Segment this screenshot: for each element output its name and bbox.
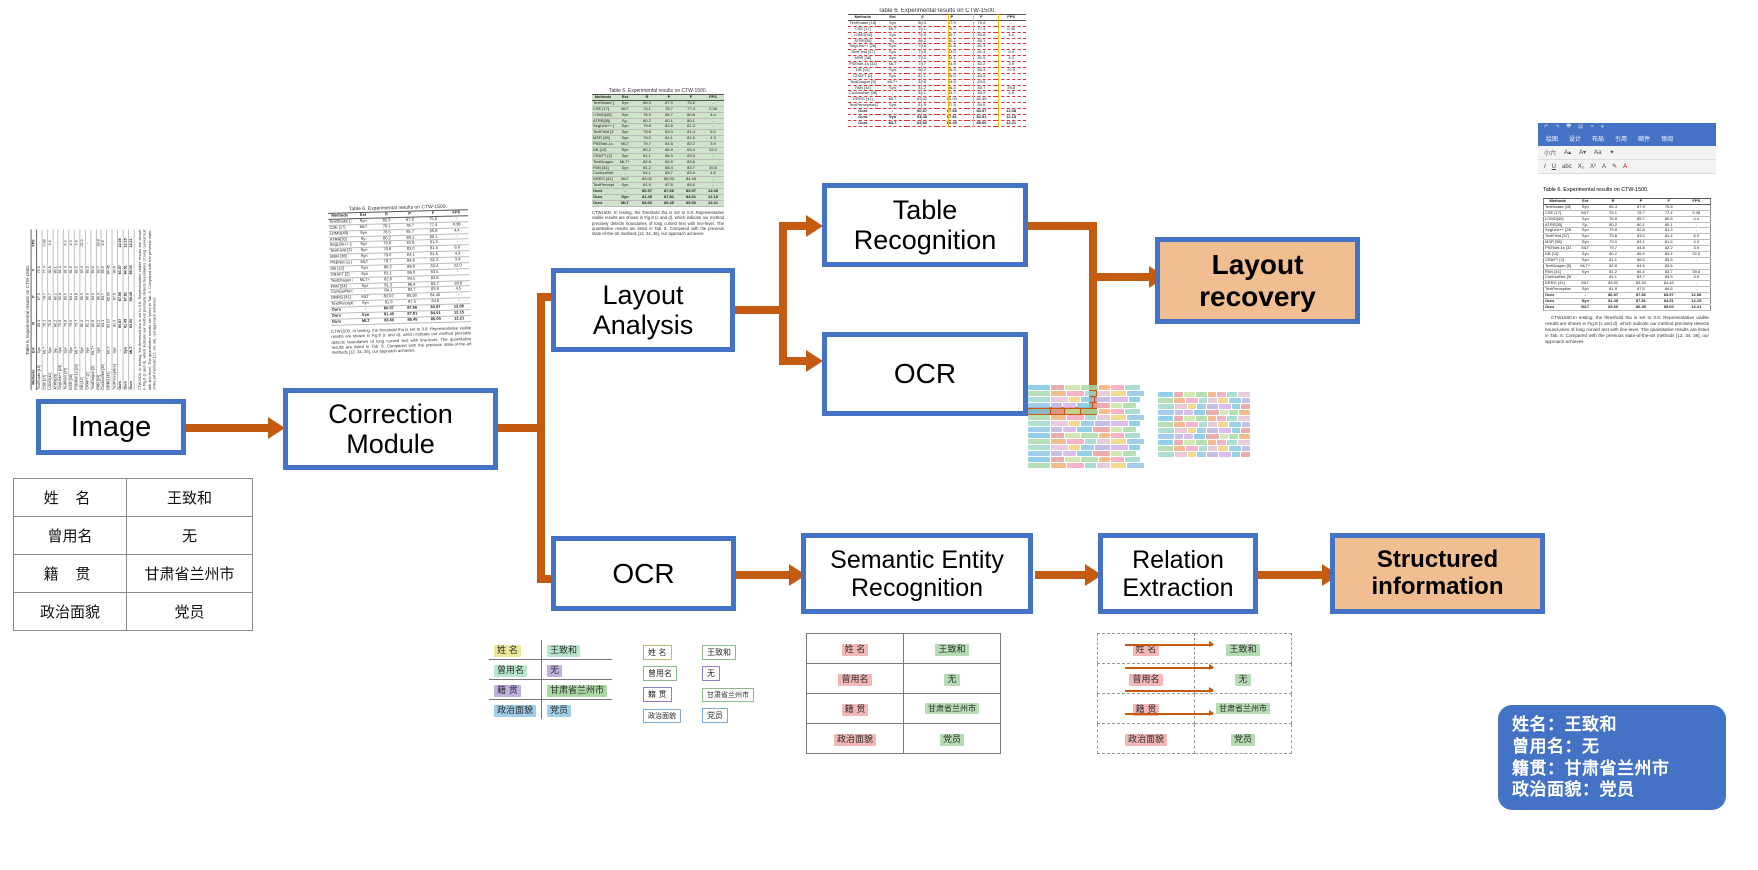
grow-font-icon[interactable]: A▴ [1564,149,1571,156]
detection-cell [1127,415,1144,420]
detection-cell [1111,421,1128,426]
re-grid: 姓 名 王致和 曾用名 无 籍 贯 甘肃省兰州市 政治面貌 党员 [1097,633,1292,754]
re-answer-0: 王致和 [1226,644,1259,656]
detection-cell [1028,403,1050,408]
cell-value: 85.00 [1655,304,1683,310]
cell-value: 12.21 [702,200,724,206]
word-style-toolbar[interactable]: I U abc X₂ X² A ✎ A [1538,160,1716,174]
detection-cell [1081,397,1094,402]
word-table-caption: Table 6. Experimental results on CTW-150… [1543,187,1649,193]
detection-cell [1186,446,1198,451]
diagram-canvas: Image Correction Module Layout Analysis … [0,0,1758,870]
detection-cell [1095,445,1110,450]
node-correction-line2: Module [340,429,441,459]
connector-correction-out [496,424,541,432]
text-effects-icon[interactable]: A [1602,164,1606,170]
dropdown-icon[interactable]: ▾ [1601,124,1604,130]
detection-cell [1111,385,1124,390]
detection-cell [1067,415,1084,420]
connector-image-to-correction [185,424,273,432]
detection-cell [1158,446,1173,451]
detection-cell [1063,451,1076,456]
detection-cell [1051,415,1066,420]
detection-cell [1158,410,1174,415]
cell-method: ContourNet [36] [592,171,614,177]
cell-method: PSENet-1s [33] [848,62,878,68]
detection-cell [1127,463,1144,468]
detection-cell [1081,385,1098,390]
detection-cell [1194,410,1205,415]
detection-cell [1111,451,1122,456]
cell-method: Ours [128,364,133,390]
detection-cell [1188,404,1196,409]
detection-cell [1174,416,1183,421]
green-doc-prose: CTW1500. In testing, the threshold tha i… [592,210,724,237]
detection-cell [1069,397,1080,402]
detection-row [1028,433,1146,438]
font-size-value[interactable]: 小六 [1544,148,1556,157]
highlight-icon[interactable]: ✎ [1612,163,1617,170]
detection-row [1158,398,1250,403]
detection-row [1028,385,1146,390]
node-structured-information[interactable]: Structured information [1330,533,1545,614]
detection-cell [1186,398,1198,403]
node-ser-line2: Recognition [845,574,989,602]
ser-question-0: 姓 名 [842,644,869,656]
cell-method: TextSnake [18] [592,100,614,106]
table-row: 籍 贯 甘肃省兰州市 [1098,694,1292,724]
strikethrough-icon[interactable]: abc [1562,164,1572,170]
cell-method: ContourNet [36] [1544,275,1572,281]
detection-cell [1028,427,1050,432]
ocr-boxes-grid: 姓 名 王致和 曾用名 无 籍 贯 甘肃省兰州市 政治面貌 党员 [638,642,759,726]
re-answer-1: 无 [1235,674,1250,686]
ocrbox-value-1: 无 [702,666,720,681]
node-image[interactable]: Image [36,399,186,455]
tab-layout[interactable]: 布局 [1592,134,1604,143]
cell-method: TextSnake [18] [848,20,878,26]
detection-cell [1063,427,1076,432]
cell-method: TextPerception[23] [592,183,614,189]
relation-arrow-3 [1209,710,1214,716]
detection-cell [1093,403,1110,408]
detection-cell [1069,421,1080,426]
detection-cell [1217,416,1226,421]
ocr-value-3: 党员 [547,705,571,717]
detection-cell [1186,422,1198,427]
ocrbox-key-3: 政治面貌 [643,709,681,723]
detection-cell [1196,416,1208,421]
detection-row [1158,422,1250,427]
detection-cell [1232,404,1240,409]
layout-analysis-preview-document: Table 6. Experimental results on CTW-150… [592,88,724,248]
node-relation-extraction[interactable]: Relation Extraction [1098,533,1258,614]
detection-cell [1175,410,1183,415]
ser-question-2: 籍 贯 [842,704,869,716]
undo-icon[interactable]: ↶ [1544,124,1548,130]
word-font-toolbar[interactable]: 小六 A▴ A▾ Aa ✦ [1538,146,1716,160]
detection-row [1028,445,1146,450]
redo-icon[interactable]: ↷ [1555,124,1559,130]
detection-cell [1174,440,1183,445]
cell-method: DRRG [41] [592,177,614,183]
cell-method: Ours [331,318,354,324]
detection-cell [1077,451,1092,456]
detection-cell [1197,404,1206,409]
detection-row [1028,415,1146,420]
detection-cell [1184,392,1194,397]
tab-review[interactable]: 审阅 [1661,134,1673,143]
detection-cell [1199,422,1207,427]
detection-cell [1238,440,1250,445]
relation-link-0 [1125,644,1213,646]
ocrbox-value-3: 党员 [702,708,728,723]
cell-value: MLT [878,120,908,126]
ocr-key-1: 曾用名 [494,665,527,677]
cell-value: 86.45 [1627,304,1655,310]
detection-cell [1081,445,1094,450]
result-line-4: 政治面貌：党员 [1512,779,1712,801]
table-row: 政治面貌 党员 [807,724,1001,754]
superscript-icon[interactable]: X² [1590,164,1596,170]
detection-cell [1051,385,1064,390]
cell-value: MLT [354,318,377,324]
detection-cell [1188,428,1196,433]
table-row: 曾用名 无 [638,663,759,684]
id-key-0: 姓 名 [14,479,127,517]
node-layout-analysis[interactable]: Layout Analysis [551,268,735,352]
detection-cell [1242,422,1250,427]
detection-cell [1129,397,1140,402]
detection-cell [1207,428,1218,433]
detection-cell [1239,434,1250,439]
result-line-2: 曾用名：无 [1512,736,1712,758]
detection-cell [1028,457,1050,462]
detection-cell [1158,416,1173,421]
node-correction-module[interactable]: Correction Module [283,388,498,470]
detection-row [1028,409,1146,414]
node-ocr-top[interactable]: OCR [822,332,1028,416]
detection-cell [1158,422,1173,427]
detection-cell [1174,446,1185,451]
cell-value: 86.45 [937,120,967,126]
detection-cell [1028,397,1050,402]
detection-row [1158,452,1250,457]
tab-mailings[interactable]: 邮件 [1638,134,1650,143]
detection-cell [1111,391,1126,396]
cell-method: SegLink++ [28] [1544,228,1572,234]
node-layout-recovery[interactable]: Layout recovery [1155,237,1360,324]
detection-cell [1063,403,1076,408]
format-painter-icon[interactable]: ✑ [1590,124,1594,130]
detection-cell [1099,385,1110,390]
ocrbox-key-0: 姓 名 [643,645,672,660]
detection-cell [1085,463,1096,468]
cell-method: TextPerception[23] [112,364,117,390]
ocrbox-key-1: 曾用名 [643,666,677,681]
detection-cell [1174,422,1185,427]
table-row: 籍 贯 甘肃省兰州市 [489,680,612,700]
detection-cell [1241,404,1250,409]
node-layout-analysis-line1: Layout [596,280,689,310]
detection-cell [1219,452,1231,457]
detection-cell [1099,457,1110,462]
cell-method: SegLink++ [28] [58,364,63,390]
cell-value: 86.45 [658,200,680,206]
detection-cell [1158,440,1173,445]
detection-cell [1217,440,1226,445]
cell-method: CRAFT [2] [592,153,614,159]
detection-cell [1129,445,1140,450]
detection-cell [1051,397,1068,402]
detection-cell [1065,433,1080,438]
re-sample-table: 姓 名 王致和 曾用名 无 籍 贯 甘肃省兰州市 政治面貌 党员 [1097,633,1292,754]
detection-cell [1208,392,1216,397]
detection-cell [1067,439,1084,444]
detection-cell [1093,427,1110,432]
detection-cell [1218,446,1229,451]
connector-table-out [1026,222,1093,230]
detection-cell [1051,433,1064,438]
detection-cell [1158,434,1174,439]
detection-cell [1220,410,1228,415]
detection-cell [1227,440,1237,445]
detection-row [1158,416,1250,421]
ocr-sample-boxes: 姓 名 王致和 曾用名 无 籍 贯 甘肃省兰州市 政治面貌 党员 [638,642,759,726]
node-semantic-entity-recognition[interactable]: Semantic Entity Recognition [801,533,1033,614]
source-doc-prose: CTW1500. In testing, the threshold tha i… [331,325,472,356]
table-row: 籍 贯 甘肃省兰州市 [14,555,253,593]
detection-cell [1028,421,1050,426]
node-structured-line1: Structured [1371,547,1504,574]
cell-method: TextField [37] [64,364,69,390]
detection-cell [1229,398,1241,403]
result-line-3: 籍贯：甘肃省兰州市 [1512,758,1712,780]
cell-method: TextSnake [18] [36,364,41,390]
detection-cell [1051,427,1062,432]
table-row: 曾用名 无 [14,517,253,555]
ocrbox-value-0: 王致和 [702,645,736,660]
source-document-scan: Table 6. Experimental results on CTW-150… [328,203,472,372]
cell-value: 83.60 [1599,304,1627,310]
cell-value: 85.00 [424,316,447,322]
detection-cell [1067,463,1084,468]
node-table-recognition[interactable]: Table Recognition [822,183,1028,267]
table-row: 姓 名 王致和 [638,642,759,663]
detection-cell [1199,446,1207,451]
ocr-detection-blob-left [1028,385,1146,490]
id-value-1: 无 [127,517,253,555]
node-re-line1: Relation [1126,546,1230,574]
detection-cell [1028,439,1050,444]
node-correction-line1: Correction [322,399,459,429]
subscript-icon[interactable]: X₂ [1578,164,1584,170]
detection-cell [1093,451,1110,456]
cell-method: ContourNet [36] [848,91,878,97]
ser-grid: 姓 名 王致和 曾用名 无 籍 贯 甘肃省兰州市 政治面貌 党员 [806,633,1001,754]
detection-cell [1123,451,1136,456]
connector-ocrbottom-to-ser [734,571,796,579]
cell-method: TextPerception[23] [1544,287,1572,293]
detection-cell [1099,433,1110,438]
detection-cell [1127,439,1144,444]
italic-icon[interactable]: I [1544,164,1546,170]
word-ribbon-tabs[interactable]: 绘图 设计 布局 引用 邮件 审阅 [1538,131,1716,146]
detection-cell [1123,403,1136,408]
detection-cell [1081,457,1098,462]
detection-cell [1238,392,1250,397]
detection-cell [1125,385,1140,390]
detection-cell [1241,452,1250,457]
cell-method: TextField [37] [1544,234,1572,240]
detection-cell [1111,415,1126,420]
detection-cell [1174,398,1185,403]
re-answer-2: 甘肃省兰州市 [1216,703,1270,714]
detection-row [1158,404,1250,409]
ocr-value-1: 无 [547,665,562,677]
ocrbox-key-2: 籍 贯 [643,687,672,702]
detection-cell [1208,446,1217,451]
change-case-icon[interactable]: Aa [1594,150,1601,156]
detection-cell [1081,421,1094,426]
ocr-key-2: 籍 贯 [494,685,521,697]
detection-cell [1158,392,1173,397]
ocr-key-0: 姓 名 [494,645,521,657]
detection-row [1158,392,1250,397]
detection-cell [1111,409,1124,414]
table-row: 姓 名 王致和 [14,479,253,517]
detection-cell [1229,410,1238,415]
cell-value: 12.21 [128,230,133,257]
node-layout-recovery-line1: Layout [1206,249,1310,280]
detection-cell [1095,397,1110,402]
relation-arrow-2 [1209,687,1214,693]
detection-row [1158,410,1250,415]
detection-cell [1207,452,1218,457]
cell-method: LOMO[40] [592,112,614,118]
table-row: 政治面貌 党员 [638,705,759,726]
ser-sample-table: 姓 名 王致和 曾用名 无 籍 贯 甘肃省兰州市 政治面貌 党员 [806,633,1001,754]
cell-method: PSENet-1s [33] [74,364,79,390]
cell-method: Ours [592,200,614,206]
detection-cell [1242,398,1250,403]
cell-value: 85.00 [128,256,133,283]
ocr-sample-table: 姓 名 王致和 曾用名 无 籍 贯 甘肃省兰州市 政治面貌 党员 [489,640,612,719]
cell-method: TextDragon [5] [1544,263,1572,269]
tab-references[interactable]: 引用 [1615,134,1627,143]
detection-cell [1196,440,1208,445]
detection-cell [1028,391,1050,396]
table-row: OursMLT83.6086.4585.0012.21 [848,120,1026,126]
detection-cell [1197,428,1206,433]
detection-cell [1208,440,1216,445]
input-id-table: 姓 名 王致和 曾用名 无 籍 贯 甘肃省兰州市 政治面貌 党员 [13,478,253,631]
detection-cell [1219,428,1231,433]
detection-cell [1028,451,1050,456]
arrowhead-ocr-top [806,350,823,372]
cell-value: 83.60 [128,310,133,337]
detection-cell [1028,385,1050,390]
detection-cell [1232,428,1240,433]
detection-cell [1028,463,1050,468]
detection-cell [1184,440,1194,445]
node-ocr-bottom[interactable]: OCR [551,536,736,611]
detection-cell [1158,404,1174,409]
table-row: 姓 名 王致和 [1098,634,1292,664]
detection-row [1028,451,1146,456]
detection-cell [1184,416,1194,421]
connector-la-out [733,306,783,314]
detection-cell [1111,445,1128,450]
underline-icon[interactable]: U [1552,164,1556,170]
detection-cell [1067,391,1084,396]
cell-method: ContourNet [36] [101,364,106,390]
detection-cell [1158,428,1174,433]
clear-format-icon[interactable]: ✦ [1609,149,1614,156]
tab-draw[interactable]: 绘图 [1546,134,1558,143]
detection-cell [1238,416,1250,421]
detection-cell [1085,439,1096,444]
detection-cell [1097,463,1110,468]
table-row: OursMLT83.6086.4585.0012.21 [592,200,724,206]
detection-cell [1199,398,1207,403]
detection-cell [1218,398,1229,403]
table-row: OursMLT83.6086.4585.0012.21 [128,230,133,391]
detection-cell [1125,433,1140,438]
tab-design[interactable]: 设计 [1569,134,1581,143]
connector-la-split-vertical [779,222,787,365]
detection-cell [1051,409,1064,414]
detection-cell [1081,433,1098,438]
table-row: OursMLT83.6086.4585.0012.21 [1544,304,1711,310]
font-color-icon[interactable]: A [1623,164,1627,170]
detection-cell [1051,421,1068,426]
ser-question-3: 政治面貌 [834,734,876,746]
detection-cell [1229,422,1241,427]
connector-split-vertical [537,293,545,583]
id-key-1: 曾用名 [14,517,127,555]
cell-value: 83.60 [907,120,937,126]
detection-row [1158,446,1250,451]
detection-cell [1158,398,1173,403]
detection-cell [1081,409,1098,414]
source-doc-table: Methods Ext R P F FPS TextSnake [18]Syn8… [328,209,471,325]
detection-cell [1111,463,1126,468]
word-quick-access-bar: ↶ ↷ 🖶 ▤ ✑ ▾ [1538,123,1716,131]
detection-cell [1097,439,1110,444]
save-icon[interactable]: ▤ [1578,124,1583,130]
cell-method: TextDragon [5] [91,364,96,390]
table-detection-preview-document: Table 6. Experimental results on CTW-150… [848,8,1026,178]
detection-cell [1208,416,1216,421]
node-layout-analysis-line2: Analysis [587,310,700,340]
detection-cell [1184,434,1193,439]
detection-row [1028,439,1146,444]
shrink-font-icon[interactable]: A▾ [1579,149,1586,156]
detection-cell [1127,391,1144,396]
cell-value: 83.60 [636,200,658,206]
detection-cell [1158,452,1174,457]
detection-cell [1051,403,1062,408]
cell-value: 85.00 [967,120,997,126]
detection-cell [1188,452,1196,457]
detection-cell [1085,415,1096,420]
connector-merge-to-recovery [1089,273,1156,281]
ser-answer-3: 党员 [940,734,964,746]
detection-cell [1194,434,1205,439]
print-icon[interactable]: 🖶 [1566,123,1571,131]
node-layout-recovery-line2: recovery [1193,281,1322,312]
